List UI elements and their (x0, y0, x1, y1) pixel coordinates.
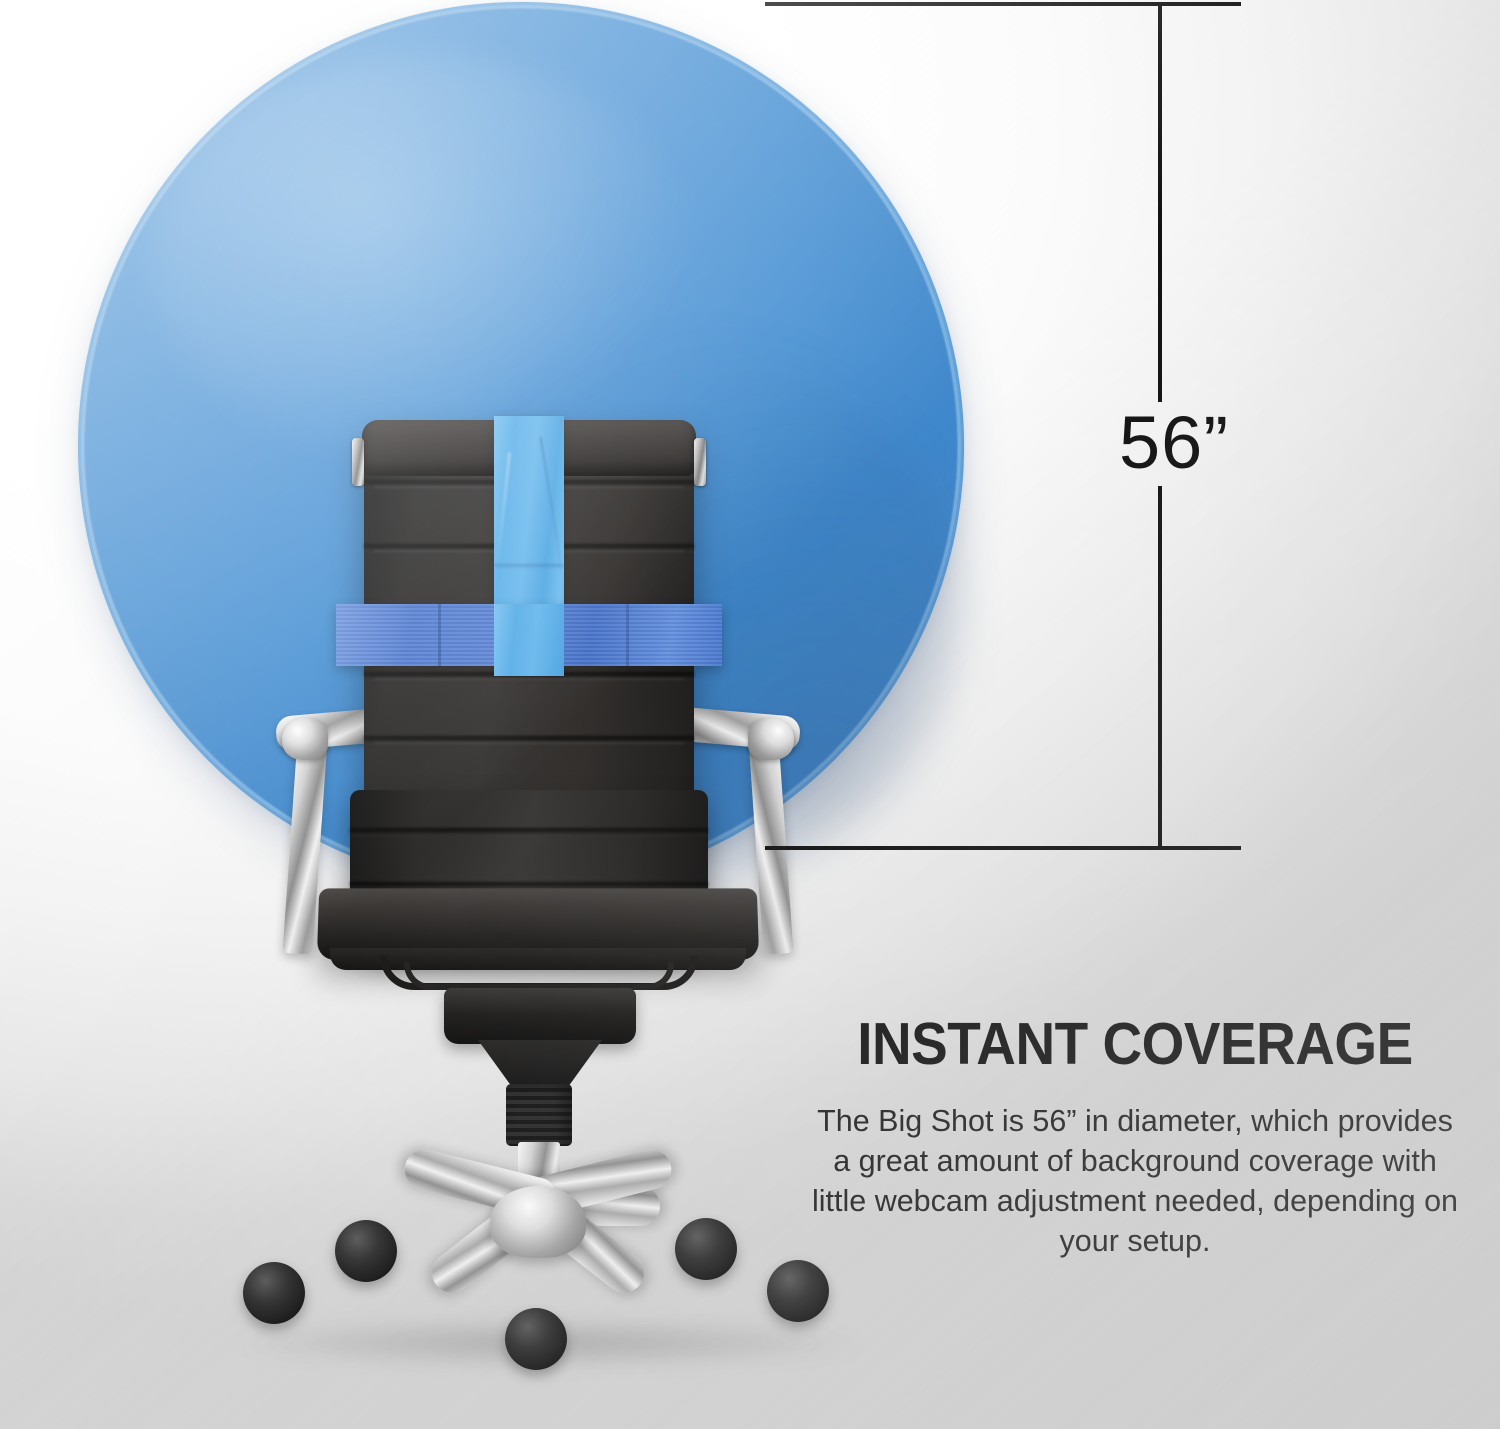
strap-seam (626, 604, 629, 666)
chair-caster (505, 1308, 567, 1370)
seat-frame-inner (404, 962, 674, 990)
chair-caster (243, 1262, 305, 1324)
backrest-rib-highlight (374, 742, 684, 745)
headline: INSTANT COVERAGE (814, 1014, 1456, 1075)
body-copy: The Big Shot is 56” in diameter, which p… (790, 1101, 1480, 1261)
headrest-clip-left-icon (352, 438, 364, 486)
gas-cylinder-boot (506, 1084, 572, 1146)
mechanism-cone (478, 1040, 602, 1088)
lumbar-rib (350, 828, 708, 836)
tilt-mechanism (444, 988, 636, 1044)
dimension-line-lower (1158, 486, 1162, 848)
chair-caster (675, 1218, 737, 1280)
dimension-line-upper (1158, 4, 1162, 402)
product-image-canvas: 56” INSTANT COVERAGE The Big Shot is 56”… (0, 0, 1500, 1429)
dimension-label: 56” (1094, 398, 1254, 488)
armrest-right-knuckle (748, 718, 794, 760)
strap-crease (494, 564, 564, 567)
chair-base (243, 1186, 833, 1336)
backdrop-strap-vertical-lower (494, 604, 564, 676)
chair-caster (767, 1260, 829, 1322)
headrest-clip-right-icon (694, 438, 706, 486)
base-hub (490, 1186, 586, 1258)
backrest-rib-highlight (374, 678, 684, 681)
dimension-tick-bottom (765, 846, 1241, 850)
strap-seam (438, 604, 441, 666)
armrest-left-knuckle (282, 718, 328, 760)
dimension-tick-top (765, 2, 1241, 6)
copy-block: INSTANT COVERAGE The Big Shot is 56” in … (790, 1014, 1480, 1261)
chair-caster (335, 1220, 397, 1282)
